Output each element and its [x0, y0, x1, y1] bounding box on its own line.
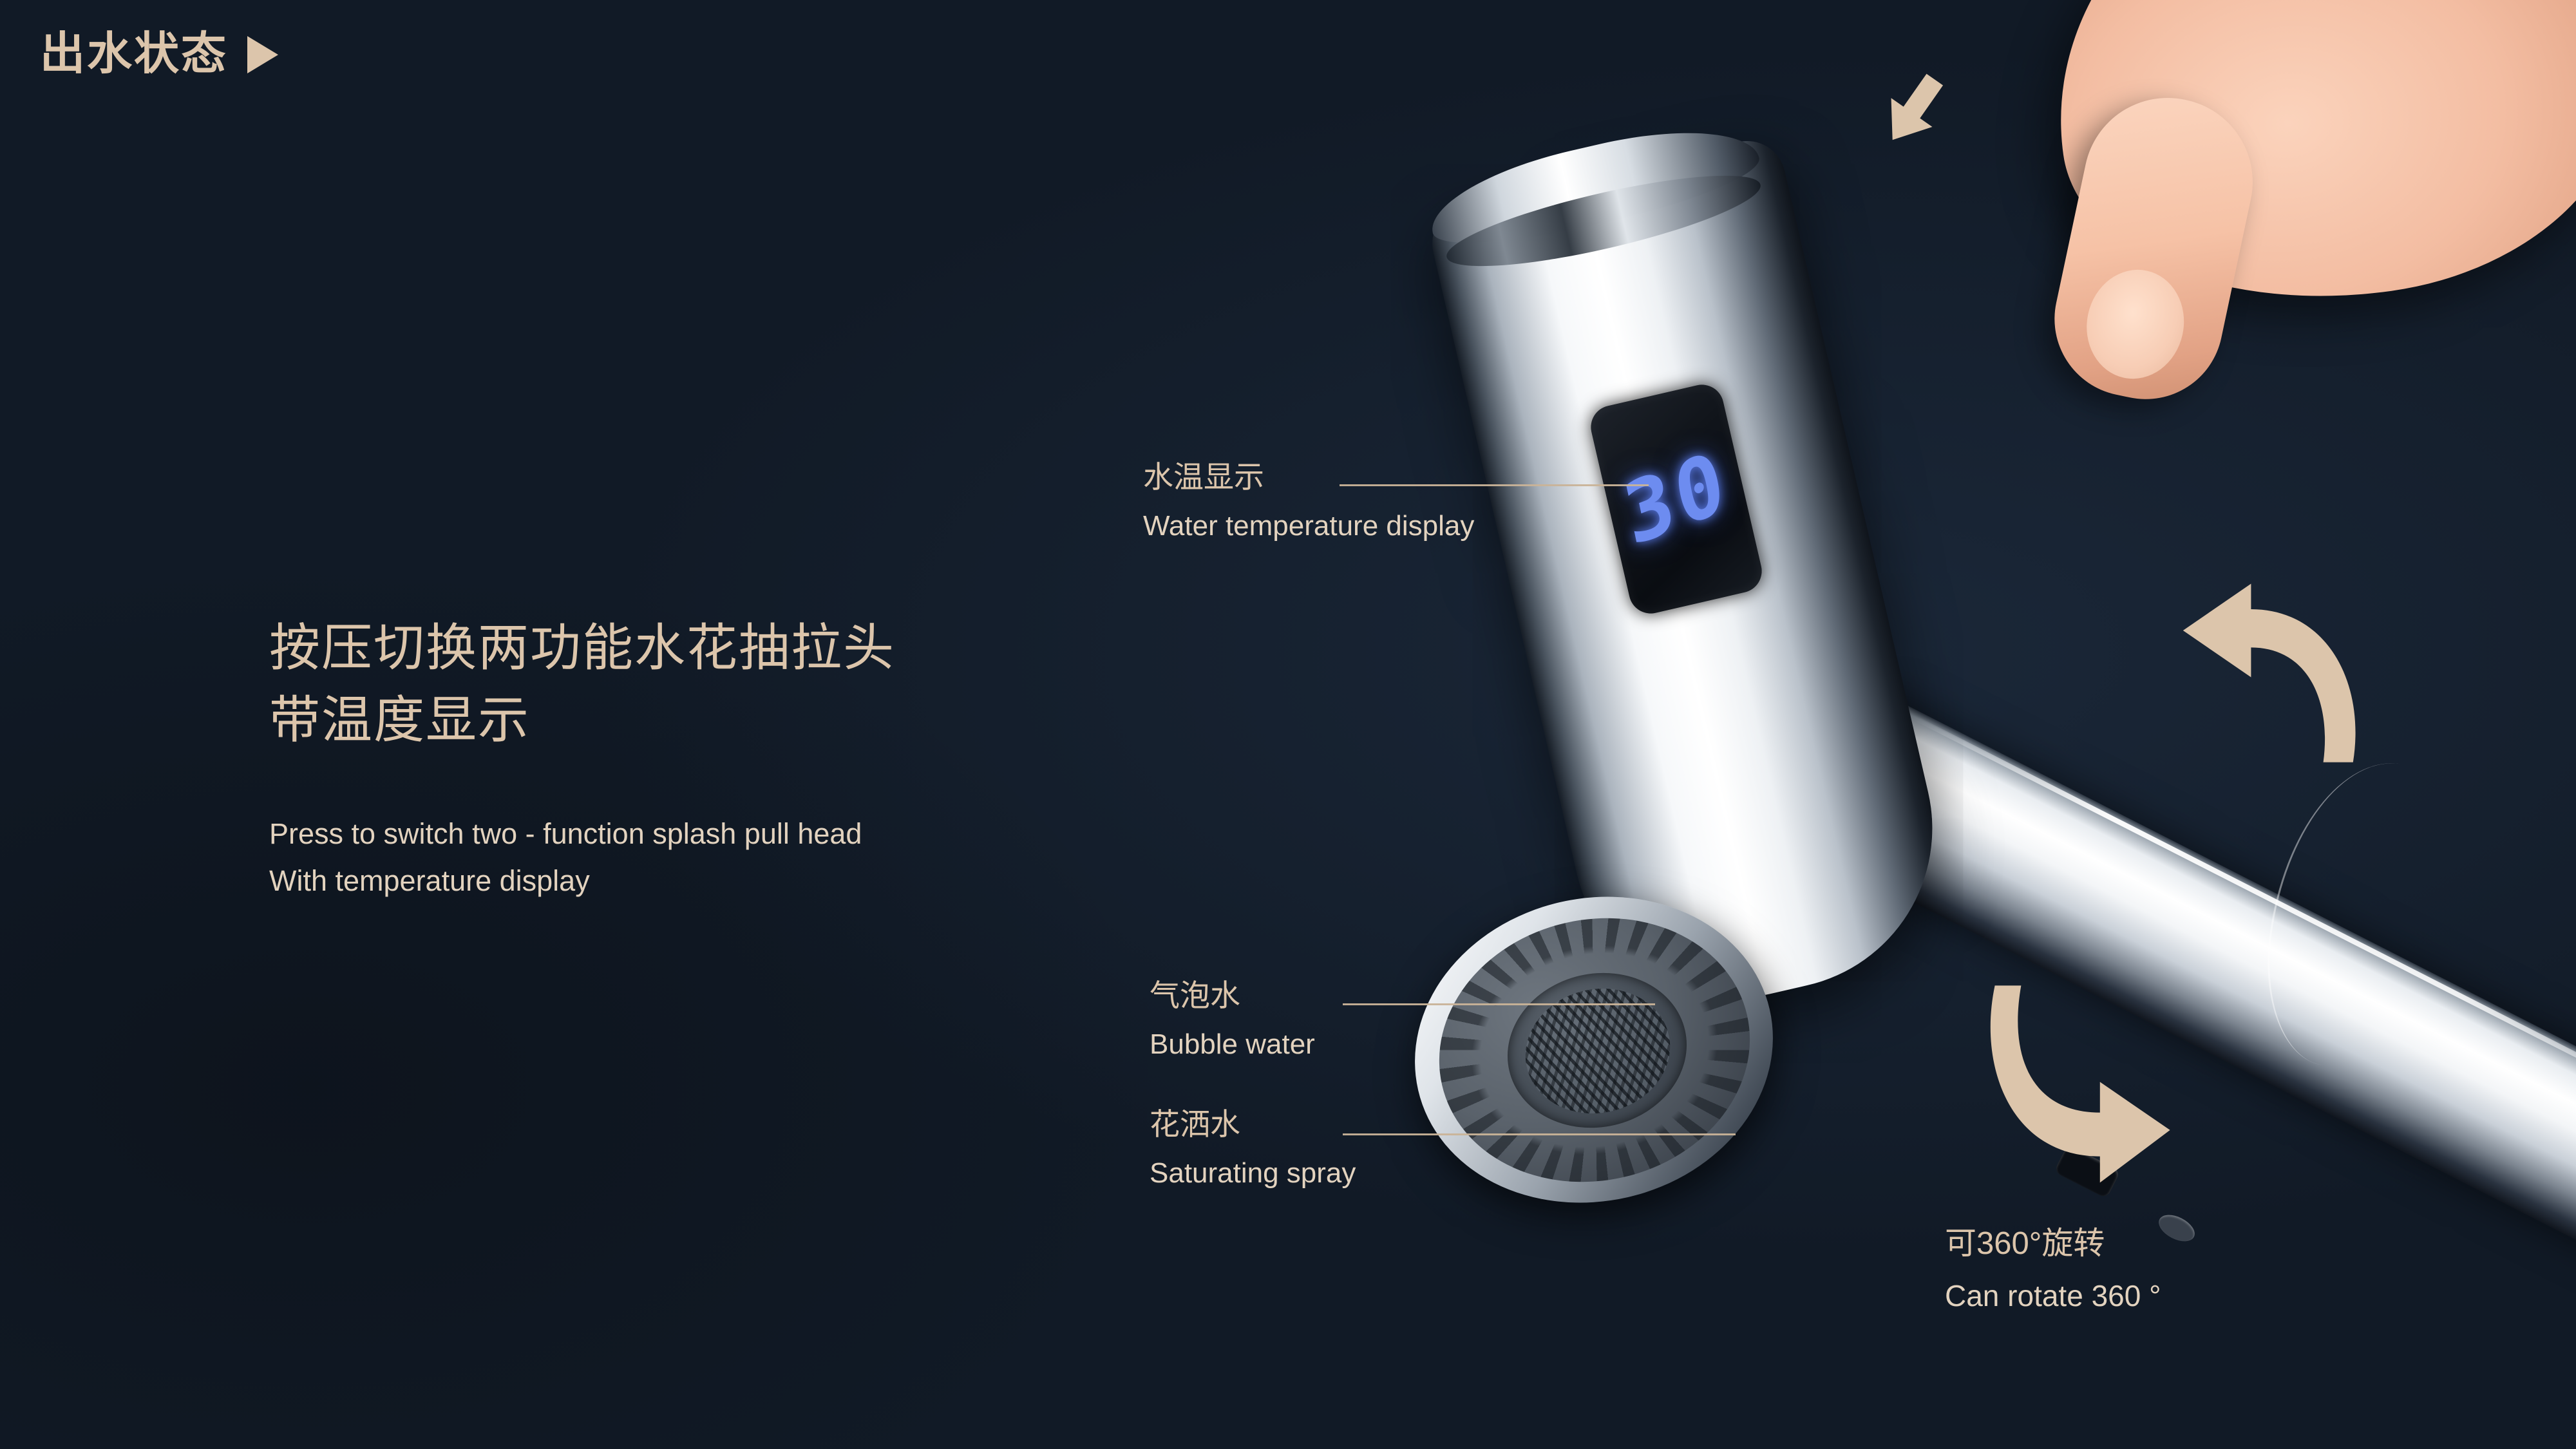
play-triangle-icon: [247, 36, 278, 73]
subtitle-line-2: With temperature display: [269, 858, 1106, 905]
callout-saturating-spray: 花洒水 Saturating spray: [1150, 1108, 1356, 1189]
callout-label-cn: 花洒水: [1150, 1108, 1356, 1141]
nozzle-face: [1413, 888, 1777, 1213]
callout-label-cn: 气泡水: [1150, 979, 1315, 1012]
rotate-counterclockwise-arrow-icon: [2170, 567, 2383, 779]
section-header: 出水状态: [40, 31, 278, 76]
callout-label-en: Bubble water: [1150, 1029, 1315, 1060]
leader-line-water-temperature: [1340, 484, 1649, 486]
subtitle-block: Press to switch two - function splash pu…: [269, 811, 1106, 905]
index-finger-icon: [2040, 82, 2268, 413]
product-feature-slide: 出水状态 按压切换两功能水花抽拉头 带温度显示 Press to switch …: [0, 0, 2576, 1449]
spout-button-dot: [2155, 1209, 2199, 1247]
pull-down-head-chrome-ring: [1441, 158, 1767, 284]
callout-label-cn: 可360°旋转: [1945, 1227, 2161, 1262]
pull-down-head-body: [1425, 133, 1964, 1030]
intro-text-block: 按压切换两功能水花抽拉头 带温度显示 Press to switch two -…: [269, 612, 1106, 905]
callout-label-en: Can rotate 360 °: [1945, 1280, 2161, 1312]
rotate-clockwise-arrow-icon: [1958, 972, 2190, 1191]
leader-line-saturating-spray: [1343, 1133, 1736, 1135]
headline-line-2: 带温度显示: [269, 684, 1106, 756]
led-temperature-value: 30: [1618, 439, 1735, 559]
spout-hose-slot: [2054, 1144, 2121, 1199]
spout-seam-line: [2253, 749, 2470, 1079]
nozzle-outer-rim: [1384, 862, 1803, 1238]
aerator-mesh: [1513, 974, 1682, 1128]
pull-down-head-collar: [1422, 110, 1766, 261]
callout-label-en: Saturating spray: [1150, 1158, 1356, 1189]
press-down-arrow-icon: [1853, 52, 1972, 171]
aerator-core: [1492, 956, 1702, 1146]
callout-label-en: Water temperature display: [1143, 511, 1474, 542]
faucet-spout-arm: [1803, 692, 2576, 1270]
callout-bubble-water: 气泡水 Bubble water: [1150, 979, 1315, 1060]
page-title: 出水状态: [40, 31, 228, 76]
subtitle-line-1: Press to switch two - function splash pu…: [269, 811, 1106, 858]
headline-line-1: 按压切换两功能水花抽拉头: [269, 612, 1106, 684]
leader-line-bubble-water: [1343, 1003, 1655, 1005]
callout-rotate-360: 可360°旋转 Can rotate 360 °: [1945, 1227, 2161, 1312]
hand-icon: [2026, 0, 2576, 334]
led-temperature-panel: 30: [1587, 381, 1766, 618]
spray-holes-ring: [1413, 888, 1777, 1213]
callout-label-cn: 水温显示: [1143, 460, 1474, 494]
callout-water-temperature-display: 水温显示 Water temperature display: [1143, 460, 1474, 542]
